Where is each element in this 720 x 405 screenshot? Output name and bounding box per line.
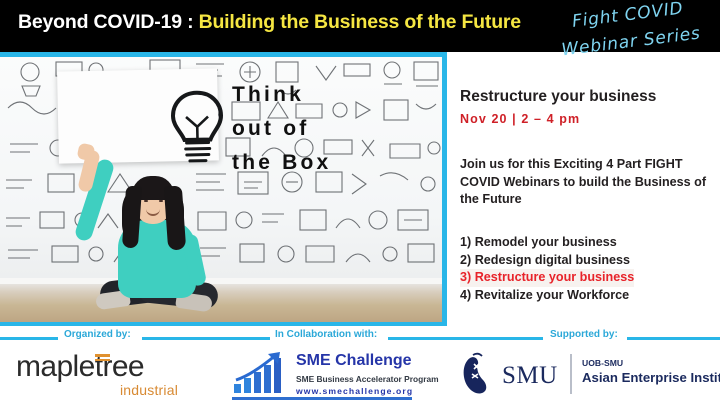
list-item: 2) Redesign digital business [460,252,712,270]
list-item-label: 1) Remodel your business [460,235,617,249]
hero-photo [0,52,447,322]
rule-segment [142,337,270,340]
smu-wordmark: SMU [502,362,558,390]
rule-segment [388,337,543,340]
list-item-label: 4) Revitalize your Workforce [460,288,629,302]
webinar-poster: Beyond COVID-19 : Building the Business … [0,0,720,405]
sme-subtitle: SME Business Accelerator Program [296,374,439,384]
session-description: Join us for this Exciting 4 Part FIGHT C… [460,156,712,209]
rule-segment [0,337,58,340]
mapletree-wordmark: mapletree [16,350,144,383]
think-line-1: Think [232,78,331,112]
session-list: 1) Remodel your business 2) Redesign dig… [460,234,712,304]
sme-underline [232,397,412,400]
label-supported-by: Supported by: [550,329,618,340]
smu-institute: Asian Enterprise Institute [582,370,720,385]
growth-chart-icon [232,350,290,396]
smu-island-icon [460,352,498,398]
smu-logo: SMU UOB-SMU Asian Enterprise Institute [460,352,498,403]
smu-divider [570,354,572,394]
left-eye [144,200,148,202]
list-item-label: 2) Redesign digital business [460,253,630,267]
sme-challenge-logo: SME Challenge SME Business Accelerator P… [232,350,290,401]
list-item: 4) Revitalize your Workforce [460,287,712,305]
mapletree-accent-bars [95,354,110,363]
page-title: Beyond COVID-19 : Building the Business … [18,11,521,34]
think-out-of-the-box-overlay: Think out of the Box [232,78,331,180]
think-line-3: the Box [232,146,331,180]
rule-segment [627,337,720,340]
sme-title: SME Challenge [296,352,412,370]
list-item: 1) Remodel your business [460,234,712,252]
smu-partner: UOB-SMU [582,358,623,368]
wood-floor [0,284,447,322]
list-item-current: 3) Restructure your business [460,269,712,287]
sme-website[interactable]: www.smechallenge.org [296,386,413,396]
label-organized-by: Organized by: [64,329,131,340]
session-datetime: Nov 20 | 2 – 4 pm [460,112,580,126]
label-collaboration: In Collaboration with: [275,329,377,340]
partners-footer: Organized by: In Collaboration with: Sup… [0,326,720,405]
page-title-prefix: Beyond COVID-19 : [18,11,199,33]
photo-right-border [442,52,447,327]
think-line-2: out of [232,112,331,146]
page-title-highlight: Building the Business of the Future [199,11,521,33]
right-eye [159,200,163,202]
session-title: Restructure your business [460,88,656,106]
photo-top-border [0,52,447,57]
lightbulb-icon [165,88,229,169]
list-item-label: 3) Restructure your business [460,269,634,287]
mapletree-logo: mapletree industrial [16,352,144,382]
mapletree-descriptor: industrial [120,382,178,398]
details-panel: Restructure your business Nov 20 | 2 – 4… [447,52,720,326]
